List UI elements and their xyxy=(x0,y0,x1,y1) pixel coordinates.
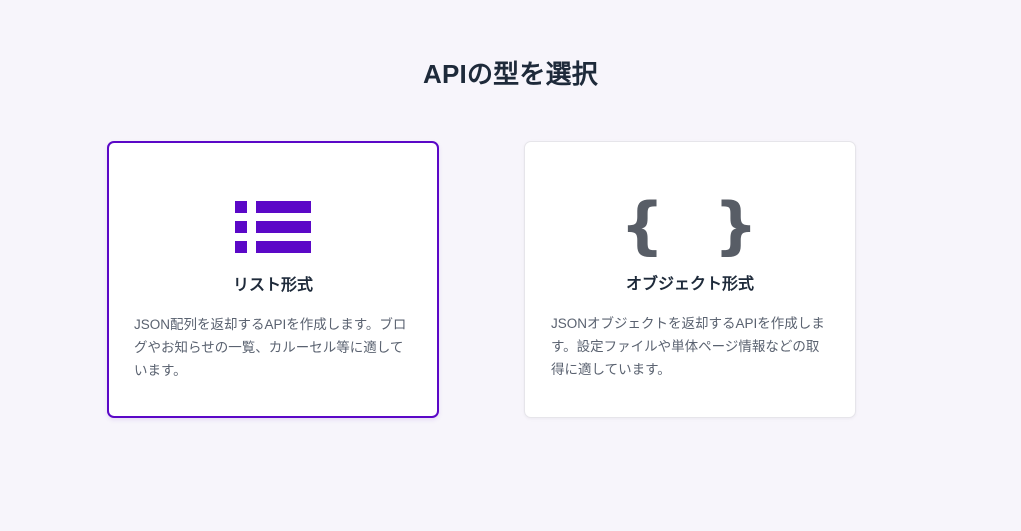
list-icon-row xyxy=(235,221,311,233)
api-type-card-list-format[interactable]: リスト形式 JSON配列を返却するAPIを作成します。ブログやお知らせの一覧、カ… xyxy=(107,141,439,418)
list-icon-bar xyxy=(256,241,311,253)
list-icon-row xyxy=(235,201,311,213)
page-title: APIの型を選択 xyxy=(0,58,1021,92)
list-icon-bar xyxy=(256,201,311,213)
list-icon-bullet xyxy=(235,201,247,213)
list-icon-bullet xyxy=(235,221,247,233)
list-icon-bar xyxy=(256,221,311,233)
api-type-card-object-format[interactable]: { } オブジェクト形式 JSONオブジェクトを返却するAPIを作成します。設定… xyxy=(524,141,856,418)
list-icon-bullet xyxy=(235,241,247,253)
braces-icon: { } xyxy=(608,195,772,257)
api-type-card-list: リスト形式 JSON配列を返却するAPIを作成します。ブログやお知らせの一覧、カ… xyxy=(107,141,857,418)
card-title: オブジェクト形式 xyxy=(626,275,754,296)
card-description: JSON配列を返却するAPIを作成します。ブログやお知らせの一覧、カルーセル等に… xyxy=(134,313,412,383)
card-icon-wrapper xyxy=(235,192,311,262)
card-title: リスト形式 xyxy=(233,276,313,297)
list-icon xyxy=(235,201,311,253)
card-description: JSONオブジェクトを返却するAPIを作成します。設定ファイルや単体ページ情報な… xyxy=(551,312,829,382)
api-type-selection-page: APIの型を選択 xyxy=(0,0,1021,531)
card-icon-wrapper: { } xyxy=(608,191,772,261)
list-icon-row xyxy=(235,241,311,253)
